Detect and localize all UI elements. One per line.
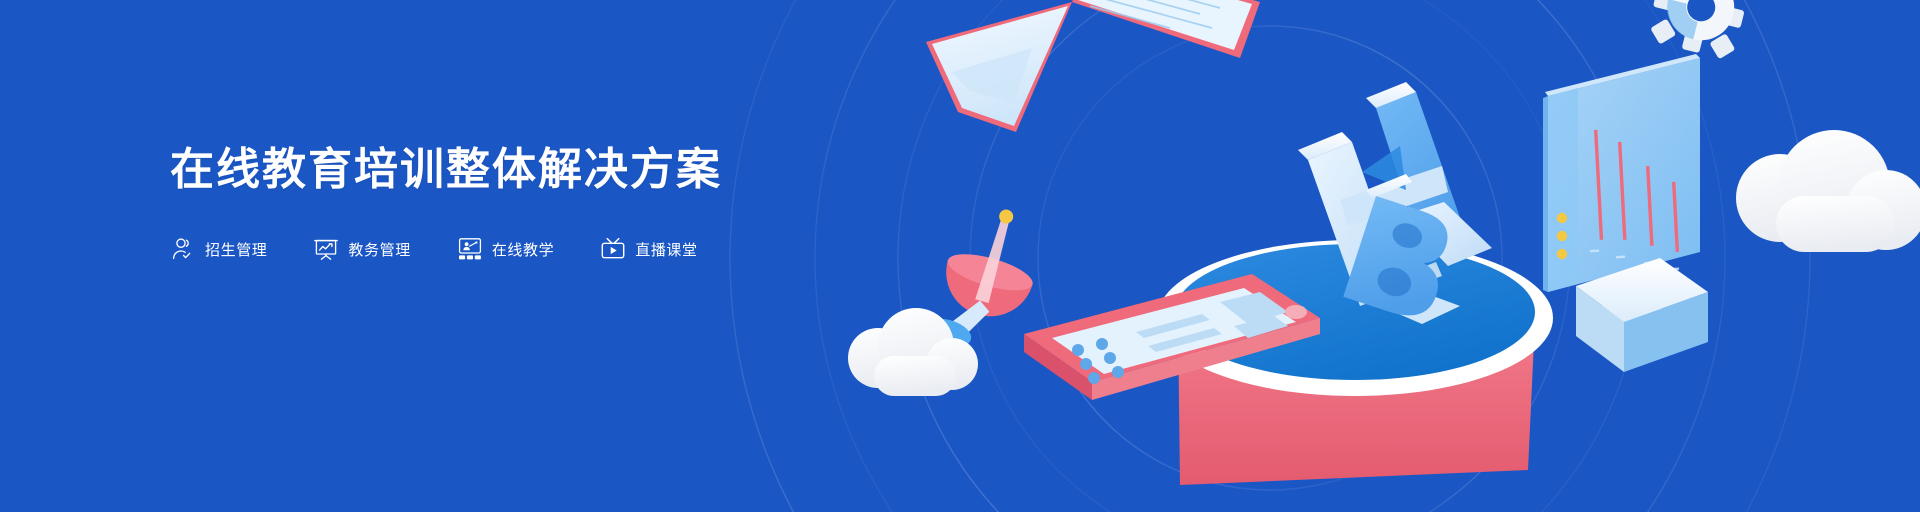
feature-item-enrollment[interactable]: 招生管理 bbox=[170, 236, 267, 262]
feature-label: 教务管理 bbox=[348, 239, 410, 260]
user-group-icon bbox=[170, 236, 196, 262]
classroom-presenter-icon bbox=[457, 236, 483, 262]
online-education-illustration bbox=[700, 0, 1920, 512]
gear-icon bbox=[1644, 0, 1754, 63]
feature-item-online-teaching[interactable]: 在线教学 bbox=[457, 236, 554, 262]
feature-label: 在线教学 bbox=[492, 239, 554, 260]
feature-label: 直播课堂 bbox=[635, 239, 697, 260]
page-title: 在线教育培训整体解决方案 bbox=[170, 146, 790, 194]
hero-copy-block: 在线教育培训整体解决方案 招生管理 bbox=[170, 146, 790, 262]
feature-list: 招生管理 教务管理 bbox=[170, 236, 790, 262]
open-book bbox=[926, 0, 1260, 132]
tv-play-icon bbox=[600, 236, 626, 262]
feature-label: 招生管理 bbox=[205, 239, 267, 260]
cloud-large bbox=[1736, 130, 1920, 252]
feature-item-academic-affairs[interactable]: 教务管理 bbox=[313, 236, 410, 262]
education-hero-banner: 在线教育培训整体解决方案 招生管理 bbox=[0, 0, 1920, 512]
chart-easel-icon bbox=[313, 236, 339, 262]
feature-item-live-classroom[interactable]: 直播课堂 bbox=[600, 236, 697, 262]
